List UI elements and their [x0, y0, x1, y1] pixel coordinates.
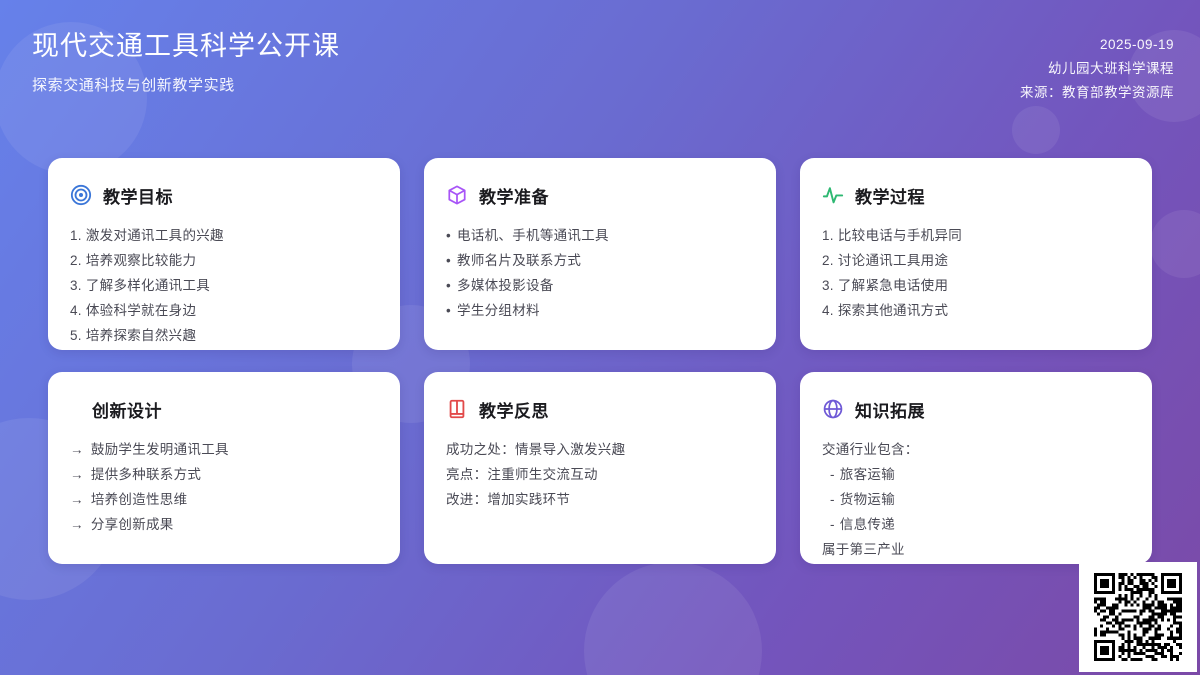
- list-text: 信息传递: [840, 517, 895, 532]
- card-title: 教学目标: [103, 183, 173, 208]
- list-text: 改进：增加实践环节: [446, 492, 570, 507]
- card-header: 知识拓展: [822, 396, 1130, 422]
- list-item: •学生分组材料: [446, 298, 754, 323]
- list-text: 学生分组材料: [457, 303, 540, 318]
- qr-code-panel[interactable]: [1079, 562, 1197, 672]
- activity-pulse-icon: [822, 184, 844, 206]
- list-item: →培养创造性思维: [70, 487, 378, 512]
- card-header: 创新设计: [70, 396, 378, 422]
- list-text: 分享创新成果: [91, 517, 174, 532]
- list-text: 教师名片及联系方式: [457, 253, 581, 268]
- slide-root: 现代交通工具科学公开课 探索交通科技与创新教学实践 2025-09-19 幼儿园…: [0, 0, 1200, 675]
- list-marker: -: [830, 487, 835, 512]
- list-marker: •: [446, 273, 451, 298]
- list-marker: 3.: [70, 273, 82, 298]
- list-item: •多媒体投影设备: [446, 273, 754, 298]
- list-item: 3.了解紧急电话使用: [822, 273, 1130, 298]
- list-item: 交通行业包含：: [822, 437, 1130, 462]
- list-item: 5.培养探索自然兴趣: [70, 323, 378, 348]
- card-teaching-preparation[interactable]: 教学准备 •电话机、手机等通讯工具 •教师名片及联系方式 •多媒体投影设备 •学…: [424, 158, 776, 350]
- list-text: 属于第三产业: [822, 542, 905, 557]
- list-text: 培养探索自然兴趣: [86, 328, 196, 343]
- list-item: 2.培养观察比较能力: [70, 248, 378, 273]
- list-item: →分享创新成果: [70, 512, 378, 537]
- list-text: 了解多样化通讯工具: [86, 278, 210, 293]
- list-item: →鼓励学生发明通讯工具: [70, 437, 378, 462]
- card-body: 交通行业包含： -旅客运输 -货物运输 -信息传递 属于第三产业: [822, 437, 1130, 562]
- card-body: 成功之处：情景导入激发兴趣 亮点：注重师生交流互动 改进：增加实践环节: [446, 437, 754, 512]
- card-header: 教学过程: [822, 182, 1130, 208]
- list-text: 亮点：注重师生交流互动: [446, 467, 598, 482]
- page-subtitle: 探索交通科技与创新教学实践: [32, 74, 340, 98]
- card-title: 知识拓展: [855, 397, 925, 422]
- list-text: 多媒体投影设备: [457, 278, 554, 293]
- page-title: 现代交通工具科学公开课: [32, 28, 340, 64]
- list-item: →提供多种联系方式: [70, 462, 378, 487]
- list-item: -货物运输: [822, 487, 1130, 512]
- list-text: 培养创造性思维: [91, 492, 188, 507]
- list-item: -旅客运输: [822, 462, 1130, 487]
- list-marker: 3.: [822, 273, 834, 298]
- list-marker: -: [830, 512, 835, 537]
- list-text: 比较电话与手机异同: [838, 228, 962, 243]
- card-teaching-goals[interactable]: 教学目标 1.激发对通讯工具的兴趣 2.培养观察比较能力 3.了解多样化通讯工具…: [48, 158, 400, 350]
- list-item: •教师名片及联系方式: [446, 248, 754, 273]
- list-text: 讨论通讯工具用途: [838, 253, 948, 268]
- list-text: 旅客运输: [840, 467, 895, 482]
- header-left-group: 现代交通工具科学公开课 探索交通科技与创新教学实践: [32, 28, 340, 98]
- target-icon: [70, 184, 92, 206]
- list-text: 货物运输: [840, 492, 895, 507]
- decorative-circle: [1150, 210, 1200, 278]
- list-item: 亮点：注重师生交流互动: [446, 462, 754, 487]
- list-text: 提供多种联系方式: [91, 467, 201, 482]
- list-text: 电话机、手机等通讯工具: [457, 228, 609, 243]
- list-marker: 1.: [70, 223, 82, 248]
- list-item: 1.比较电话与手机异同: [822, 223, 1130, 248]
- globe-icon: [822, 398, 844, 420]
- list-item: 4.体验科学就在身边: [70, 298, 378, 323]
- card-header: 教学准备: [446, 182, 754, 208]
- card-body: •电话机、手机等通讯工具 •教师名片及联系方式 •多媒体投影设备 •学生分组材料: [446, 223, 754, 323]
- list-item: 改进：增加实践环节: [446, 487, 754, 512]
- list-marker: •: [446, 223, 451, 248]
- list-text: 成功之处：情景导入激发兴趣: [446, 442, 625, 457]
- card-body: 1.激发对通讯工具的兴趣 2.培养观察比较能力 3.了解多样化通讯工具 4.体验…: [70, 223, 378, 348]
- card-title: 创新设计: [92, 397, 162, 422]
- card-teaching-reflection[interactable]: 教学反思 成功之处：情景导入激发兴趣 亮点：注重师生交流互动 改进：增加实践环节: [424, 372, 776, 564]
- list-marker: 4.: [70, 298, 82, 323]
- list-marker: →: [70, 487, 84, 512]
- card-innovation-design[interactable]: 创新设计 →鼓励学生发明通讯工具 →提供多种联系方式 →培养创造性思维 →分享创…: [48, 372, 400, 564]
- list-marker: 4.: [822, 298, 834, 323]
- list-item: 2.讨论通讯工具用途: [822, 248, 1130, 273]
- header-course: 幼儿园大班科学课程: [1020, 57, 1174, 81]
- list-marker: →: [70, 462, 84, 487]
- list-item: 属于第三产业: [822, 537, 1130, 562]
- decorative-circle: [584, 562, 762, 675]
- card-header: 教学目标: [70, 182, 378, 208]
- list-marker: →: [70, 437, 84, 462]
- header-source: 来源：教育部教学资源库: [1020, 81, 1174, 105]
- list-text: 了解紧急电话使用: [838, 278, 948, 293]
- card-body: 1.比较电话与手机异同 2.讨论通讯工具用途 3.了解紧急电话使用 4.探索其他…: [822, 223, 1130, 323]
- list-marker: •: [446, 298, 451, 323]
- slide-header: 现代交通工具科学公开课 探索交通科技与创新教学实践 2025-09-19 幼儿园…: [0, 0, 1200, 140]
- card-title: 教学反思: [479, 397, 549, 422]
- qr-code: [1094, 573, 1182, 661]
- card-title: 教学准备: [479, 183, 549, 208]
- list-text: 鼓励学生发明通讯工具: [91, 442, 229, 457]
- card-header: 教学反思: [446, 396, 754, 422]
- list-text: 交通行业包含：: [822, 442, 919, 457]
- list-text: 激发对通讯工具的兴趣: [86, 228, 224, 243]
- book-icon: [446, 398, 468, 420]
- list-item: 3.了解多样化通讯工具: [70, 273, 378, 298]
- list-marker: 2.: [70, 248, 82, 273]
- list-item: 1.激发对通讯工具的兴趣: [70, 223, 378, 248]
- list-item: 成功之处：情景导入激发兴趣: [446, 437, 754, 462]
- list-text: 探索其他通讯方式: [838, 303, 948, 318]
- list-marker: 2.: [822, 248, 834, 273]
- list-marker: 5.: [70, 323, 82, 348]
- card-teaching-process[interactable]: 教学过程 1.比较电话与手机异同 2.讨论通讯工具用途 3.了解紧急电话使用 4…: [800, 158, 1152, 350]
- list-item: 4.探索其他通讯方式: [822, 298, 1130, 323]
- box-icon: [446, 184, 468, 206]
- card-body: →鼓励学生发明通讯工具 →提供多种联系方式 →培养创造性思维 →分享创新成果: [70, 437, 378, 537]
- header-date: 2025-09-19: [1020, 33, 1174, 57]
- card-grid: 教学目标 1.激发对通讯工具的兴趣 2.培养观察比较能力 3.了解多样化通讯工具…: [48, 158, 1152, 564]
- header-meta-group: 2025-09-19 幼儿园大班科学课程 来源：教育部教学资源库: [1020, 33, 1174, 105]
- card-knowledge-extension[interactable]: 知识拓展 交通行业包含： -旅客运输 -货物运输 -信息传递 属于第三产业: [800, 372, 1152, 564]
- card-title: 教学过程: [855, 183, 925, 208]
- list-marker: •: [446, 248, 451, 273]
- list-marker: 1.: [822, 223, 834, 248]
- list-item: -信息传递: [822, 512, 1130, 537]
- list-marker: →: [70, 512, 84, 537]
- list-marker: -: [830, 462, 835, 487]
- list-text: 培养观察比较能力: [86, 253, 196, 268]
- list-item: •电话机、手机等通讯工具: [446, 223, 754, 248]
- list-text: 体验科学就在身边: [86, 303, 196, 318]
